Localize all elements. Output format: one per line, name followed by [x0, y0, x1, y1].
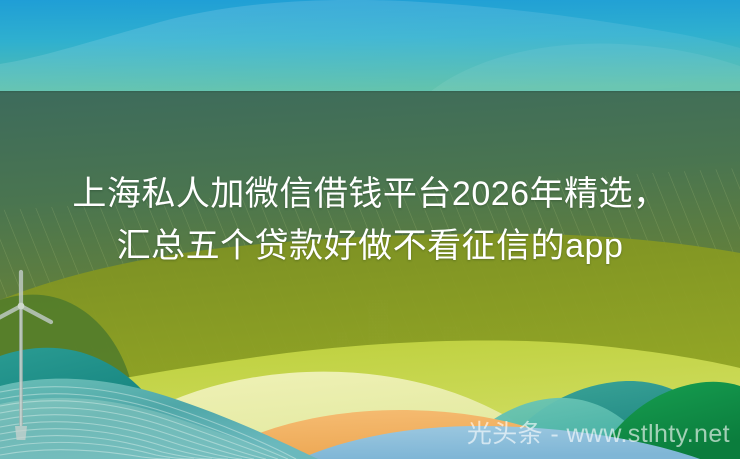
banner-artwork — [0, 0, 740, 459]
sky-band — [0, 0, 740, 92]
article-banner: 上海私人加微信借钱平台2026年精选， 汇总五个贷款好做不看征信的app 光头条… — [0, 0, 740, 459]
band-divider — [0, 91, 740, 92]
